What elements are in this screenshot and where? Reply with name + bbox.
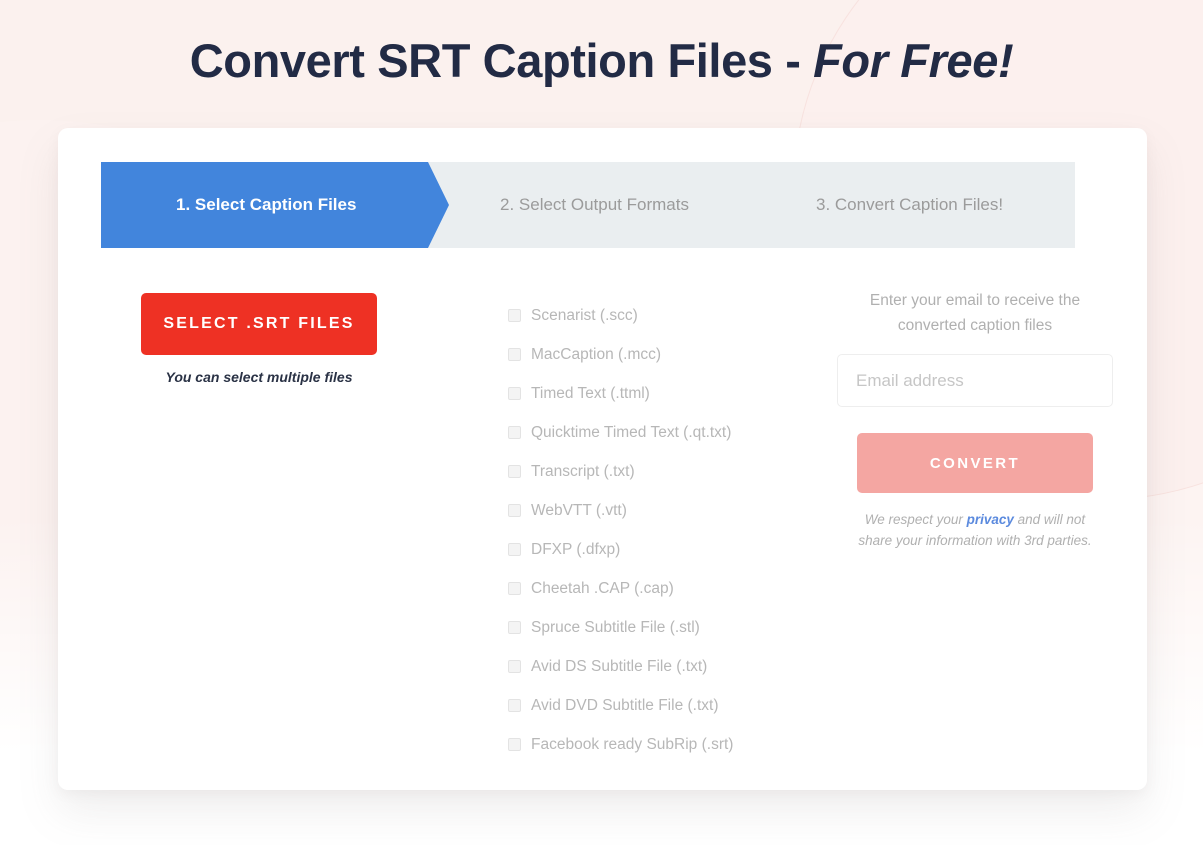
privacy-note-before: We respect your <box>865 512 967 527</box>
format-option-label: Spruce Subtitle File (.stl) <box>531 619 700 637</box>
privacy-note: We respect your privacy and will not sha… <box>850 509 1100 551</box>
page-title-emphasis: For Free! <box>813 34 1013 87</box>
convert-button[interactable]: CONVERT <box>857 433 1093 493</box>
checkbox-icon[interactable] <box>508 504 521 517</box>
output-format-list: Scenarist (.scc)MacCaption (.mcc)Timed T… <box>460 278 803 764</box>
select-srt-files-button[interactable]: SELECT .SRT FILES <box>141 293 377 355</box>
format-option-label: MacCaption (.mcc) <box>531 346 661 364</box>
format-option-label: Scenarist (.scc) <box>531 307 638 325</box>
checkbox-icon[interactable] <box>508 543 521 556</box>
format-option[interactable]: Quicktime Timed Text (.qt.txt) <box>508 413 803 452</box>
page-title: Convert SRT Caption Files - For Free! <box>0 30 1203 92</box>
format-option[interactable]: Cheetah .CAP (.cap) <box>508 569 803 608</box>
format-option[interactable]: Avid DS Subtitle File (.txt) <box>508 647 803 686</box>
format-option-label: Avid DS Subtitle File (.txt) <box>531 658 707 676</box>
format-option[interactable]: DFXP (.dfxp) <box>508 530 803 569</box>
step-1-label: 1. Select Caption Files <box>176 195 356 215</box>
format-option-label: Facebook ready SubRip (.srt) <box>531 736 733 754</box>
step-2-label: 2. Select Output Formats <box>500 195 689 215</box>
email-input[interactable] <box>837 354 1113 407</box>
format-option[interactable]: MacCaption (.mcc) <box>508 335 803 374</box>
format-option-label: DFXP (.dfxp) <box>531 541 620 559</box>
checkbox-icon[interactable] <box>508 582 521 595</box>
format-option-label: Avid DVD Subtitle File (.txt) <box>531 697 719 715</box>
checkbox-icon[interactable] <box>508 387 521 400</box>
upload-hint: You can select multiple files <box>166 369 353 385</box>
format-option[interactable]: Transcript (.txt) <box>508 452 803 491</box>
format-option[interactable]: WebVTT (.vtt) <box>508 491 803 530</box>
checkbox-icon[interactable] <box>508 426 521 439</box>
step-progress-bar: 1. Select Caption Files 2. Select Output… <box>101 162 1075 248</box>
checkbox-icon[interactable] <box>508 699 521 712</box>
step-convert-caption-files[interactable]: 3. Convert Caption Files! <box>758 162 1075 248</box>
checkbox-icon[interactable] <box>508 348 521 361</box>
format-option-label: Quicktime Timed Text (.qt.txt) <box>531 424 731 442</box>
step-select-output-formats[interactable]: 2. Select Output Formats <box>448 162 758 248</box>
step-select-caption-files[interactable]: 1. Select Caption Files <box>101 162 448 248</box>
format-option[interactable]: Timed Text (.ttml) <box>508 374 803 413</box>
format-option[interactable]: Avid DVD Subtitle File (.txt) <box>508 686 803 725</box>
page-title-main: Convert SRT Caption Files - <box>190 34 813 87</box>
email-column: Enter your email to receive the converte… <box>803 278 1147 764</box>
format-option-label: WebVTT (.vtt) <box>531 502 627 520</box>
privacy-link[interactable]: privacy <box>967 512 1014 527</box>
converter-columns: SELECT .SRT FILES You can select multipl… <box>58 278 1147 764</box>
checkbox-icon[interactable] <box>508 621 521 634</box>
format-option[interactable]: Scenarist (.scc) <box>508 296 803 335</box>
format-option-label: Cheetah .CAP (.cap) <box>531 580 674 598</box>
upload-column: SELECT .SRT FILES You can select multipl… <box>58 278 460 764</box>
format-option-label: Timed Text (.ttml) <box>531 385 650 403</box>
format-option-label: Transcript (.txt) <box>531 463 635 481</box>
checkbox-icon[interactable] <box>508 309 521 322</box>
email-prompt: Enter your email to receive the converte… <box>837 288 1113 338</box>
converter-card: 1. Select Caption Files 2. Select Output… <box>58 128 1147 790</box>
step-3-label: 3. Convert Caption Files! <box>816 195 1003 215</box>
format-option[interactable]: Facebook ready SubRip (.srt) <box>508 725 803 764</box>
checkbox-icon[interactable] <box>508 465 521 478</box>
checkbox-icon[interactable] <box>508 660 521 673</box>
format-option[interactable]: Spruce Subtitle File (.stl) <box>508 608 803 647</box>
checkbox-icon[interactable] <box>508 738 521 751</box>
